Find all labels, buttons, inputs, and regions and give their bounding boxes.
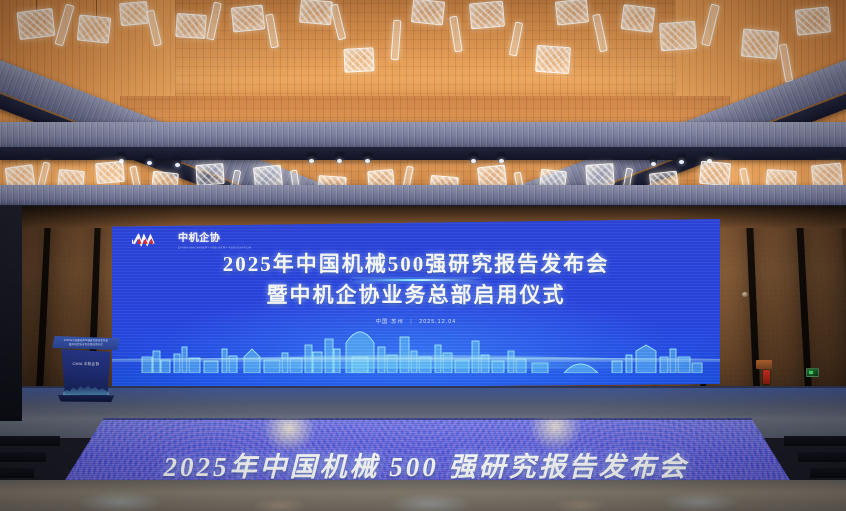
side-crate: [756, 360, 772, 369]
ceiling-beam-bottom: [0, 185, 846, 207]
podium-base: [56, 395, 116, 402]
stage-riser-left: [0, 436, 60, 446]
podium-top-line-2: 暨中机企协业务总部启用仪式: [59, 343, 113, 347]
podium: 2025年中国机械500强研究报告发布会 暨中机企协业务总部启用仪式 CMIA …: [50, 336, 122, 400]
carpet: [0, 480, 846, 511]
stage-riser-right-2: [798, 452, 846, 462]
carpet-pattern: [0, 480, 846, 511]
fire-extinguisher-icon: [763, 370, 770, 384]
podium-logo: CMIA 中机企协: [64, 362, 108, 367]
ceiling: [0, 0, 846, 215]
stage-riser-right-3: [810, 468, 846, 478]
ceiling-beam-middle-shadow: [0, 147, 846, 160]
stage-riser-left-2: [0, 452, 46, 462]
venue-photo: 中机企协 CHINA MACHINERY INDUSTRY ASSOCIATIO…: [0, 0, 846, 511]
ceiling-beam-middle: [0, 122, 846, 148]
wall-knob-icon: [742, 292, 748, 297]
left-dark-column: [0, 206, 22, 421]
stage-riser-left-3: [0, 468, 34, 478]
exit-sign-icon: [806, 368, 819, 377]
podium-logo-mark: CMIA: [73, 362, 83, 366]
podium-top-text: 2025年中国机械500强研究报告发布会 暨中机企协业务总部启用仪式: [59, 339, 113, 346]
led-backdrop-screen: 中机企协 CHINA MACHINERY INDUSTRY ASSOCIATIO…: [112, 219, 720, 389]
podium-logo-chinese: 中机企协: [84, 362, 100, 366]
stage-riser-right: [784, 436, 846, 446]
stage-floor-reflection: [0, 388, 846, 414]
